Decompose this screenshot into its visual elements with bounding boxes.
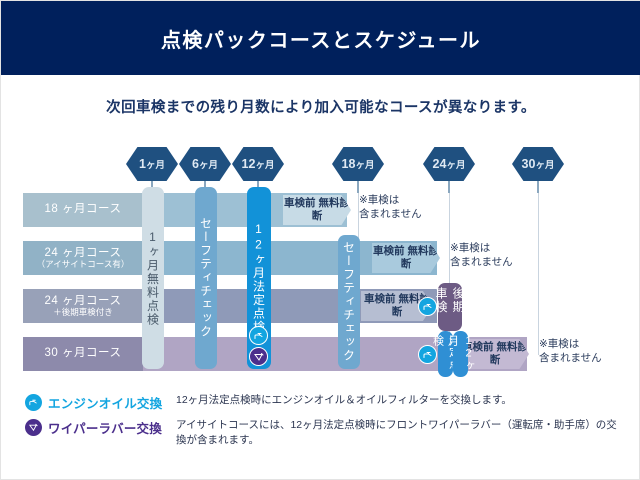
infographic-root: 点検パックコースとスケジュール 次回車検までの残り月数により加入可能なコースが異…	[0, 0, 640, 480]
marker-unit: ヶ月	[146, 157, 165, 171]
legend-desc-oil: 12ヶ月法定点検時にエンジンオイル＆オイルフィルターを交換します。	[176, 393, 625, 408]
legend-item-oil: エンジンオイル交換 12ヶ月法定点検時にエンジンオイル＆オイルフィルターを交換し…	[25, 393, 625, 412]
marker-value: 18	[342, 157, 356, 171]
wiper-icon	[25, 419, 42, 436]
schedule-chart: 1ヶ月 6ヶ月 12ヶ月 18ヶ月 24ヶ月 30ヶ月 18 ヶ月コース 車検前…	[1, 133, 640, 385]
marker-value: 6	[192, 157, 199, 171]
legend-item-wiper: ワイパーラバー交換 アイサイトコースには、12ヶ月法定点検時にフロントワイパーラ…	[25, 418, 625, 448]
pill-safety-check-6m: セーフティチェック	[195, 187, 217, 369]
legend-label-oil: エンジンオイル交換	[48, 393, 176, 412]
subtitle-text: 次回車検までの残り月数により加入可能なコースが異なります。	[1, 96, 640, 117]
marker-value: 30	[522, 157, 536, 171]
row-label-main: 18 ヶ月コース	[45, 203, 122, 216]
pill-legal-check-24m-col2: 12ヶ月	[453, 331, 468, 377]
row-label-18m: 18 ヶ月コース	[23, 193, 143, 227]
marker-value: 24	[433, 157, 447, 171]
note-not-included-30m: ※車検は 含まれません	[539, 337, 602, 365]
timeline-marker-1m: 1ヶ月	[126, 147, 178, 181]
pill-safety-check-18m: セーフティチェック	[338, 235, 360, 369]
legend: エンジンオイル交換 12ヶ月法定点検時にエンジンオイル＆オイルフィルターを交換し…	[25, 393, 625, 454]
oil-can-icon	[25, 394, 42, 411]
page-header: 点検パックコースとスケジュール	[1, 1, 640, 75]
note-not-included-24m: ※車検は 含まれません	[450, 241, 513, 269]
oil-can-icon	[418, 345, 437, 364]
oil-can-icon	[418, 297, 437, 316]
legend-label-wiper: ワイパーラバー交換	[48, 418, 176, 437]
row-label-sub: ＋後期車検付き	[53, 308, 113, 318]
marker-unit: ヶ月	[535, 157, 554, 171]
marker-unit: ヶ月	[446, 157, 465, 171]
timeline-marker-18m: 18ヶ月	[332, 147, 384, 181]
pill-late-inspection-24m: 後期車検	[438, 283, 462, 331]
marker-unit: ヶ月	[355, 157, 374, 171]
marker-value: 1	[139, 157, 146, 171]
row-label-main: 24 ヶ月コース	[45, 295, 122, 308]
pre-inspection-arrow-18m: 車検前 無料診断	[283, 195, 351, 225]
row-label-main: 30 ヶ月コース	[45, 347, 122, 360]
guide-line-30m	[538, 169, 539, 355]
row-label-30m: 30 ヶ月コース	[23, 337, 143, 371]
note-not-included-18m: ※車検は 含まれません	[359, 193, 422, 221]
pill-free-check-1m: 1ヶ月無料点検	[142, 187, 164, 369]
timeline-marker-24m: 24ヶ月	[423, 147, 475, 181]
marker-unit: ヶ月	[255, 157, 274, 171]
timeline-marker-30m: 30ヶ月	[512, 147, 564, 181]
marker-stem-18m	[357, 181, 359, 193]
page-title: 点検パックコースとスケジュール	[161, 24, 481, 53]
marker-value: 12	[242, 157, 256, 171]
row-label-main: 24 ヶ月コース	[45, 247, 122, 260]
legend-desc-wiper: アイサイトコースには、12ヶ月法定点検時にフロントワイパーラバー（運転席・助手席…	[176, 418, 625, 448]
row-label-24m: 24 ヶ月コース （アイサイトコース有）	[23, 241, 143, 275]
pre-inspection-arrow-24m: 車検前 無料診断	[372, 243, 440, 273]
oil-can-icon	[249, 326, 268, 345]
wiper-icon	[249, 347, 268, 366]
row-label-sub: （アイサイトコース有）	[37, 260, 130, 270]
marker-unit: ヶ月	[199, 157, 218, 171]
timeline-marker-12m: 12ヶ月	[232, 147, 284, 181]
timeline-marker-6m: 6ヶ月	[179, 147, 231, 181]
row-label-24m-late: 24 ヶ月コース ＋後期車検付き	[23, 289, 143, 323]
marker-stem-30m	[537, 181, 539, 193]
marker-stem-24m	[448, 181, 450, 193]
